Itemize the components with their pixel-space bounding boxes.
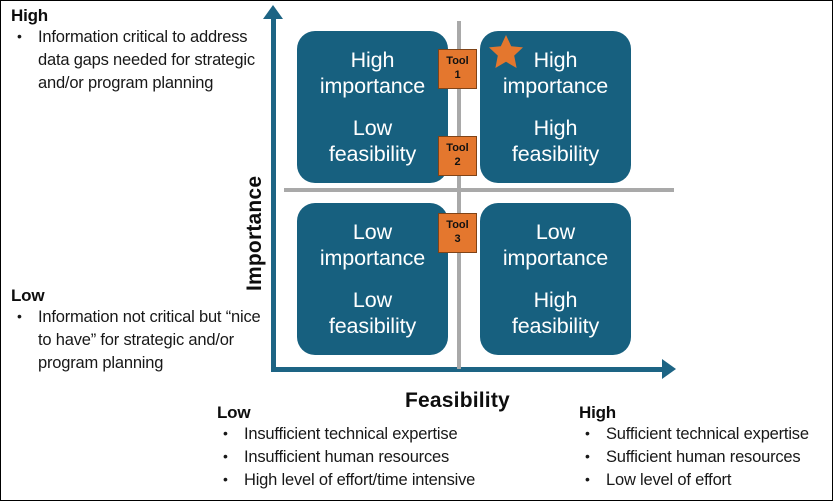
quadrant-importance-line2: importance	[503, 74, 608, 98]
tool-marker-name: Tool	[446, 219, 468, 232]
list-item: High level of effort/time intensive	[217, 469, 557, 492]
list-item: Insufficient human resources	[217, 446, 557, 469]
importance-low-description: Low Information not critical but “nice t…	[11, 286, 261, 375]
quadrant-importance-text: High importance	[320, 47, 425, 99]
y-axis-arrow-icon	[263, 5, 283, 19]
quadrant-importance-line2: importance	[320, 74, 425, 98]
quadrant-importance-line2: importance	[503, 246, 608, 270]
quadrant-feasibility-text: High feasibility	[512, 287, 599, 339]
quadrant-feasibility-line2: feasibility	[329, 142, 416, 166]
y-axis-line	[271, 19, 276, 371]
importance-high-label: High	[11, 6, 273, 26]
tool-marker-number: 2	[454, 155, 460, 170]
y-axis-label: Importance	[243, 176, 267, 291]
feasibility-high-label: High	[579, 403, 833, 423]
quadrant-feasibility-line2: feasibility	[512, 314, 599, 338]
feasibility-high-description: High Sufficient technical expertise Suff…	[579, 403, 833, 492]
quadrant-feasibility-text: Low feasibility	[329, 287, 416, 339]
importance-high-description: High Information critical to address dat…	[11, 6, 273, 95]
feasibility-low-bullet-list: Insufficient technical expertise Insuffi…	[217, 423, 557, 492]
x-axis-line	[271, 367, 663, 372]
quadrant-importance-line1: High	[351, 48, 395, 72]
tool-marker-tool-2[interactable]: Tool 2	[438, 136, 477, 176]
tool-marker-name: Tool	[446, 55, 468, 68]
quadrant-importance-line1: Low	[536, 220, 575, 244]
grid-horizontal-divider	[284, 188, 674, 192]
quadrant-feasibility-line2: feasibility	[329, 314, 416, 338]
list-item: Low level of effort	[579, 469, 833, 492]
quadrant-feasibility-text: High feasibility	[512, 115, 599, 167]
quadrant-low-importance-high-feasibility[interactable]: Low importance High feasibility	[480, 203, 631, 355]
importance-high-bullet-list: Information critical to address data gap…	[11, 26, 273, 95]
quadrant-importance-line1: High	[534, 48, 578, 72]
quadrant-importance-text: Low importance	[503, 219, 608, 271]
list-item: Information critical to address data gap…	[11, 26, 273, 95]
tool-marker-tool-3[interactable]: Tool 3	[438, 213, 477, 253]
quadrant-feasibility-line1: High	[534, 288, 578, 312]
feasibility-low-label: Low	[217, 403, 557, 423]
quadrant-feasibility-line1: High	[534, 116, 578, 140]
tool-marker-number: 1	[454, 68, 460, 83]
star-icon	[488, 34, 524, 69]
quadrant-importance-text: Low importance	[320, 219, 425, 271]
list-item: Insufficient technical expertise	[217, 423, 557, 446]
tool-marker-tool-1[interactable]: Tool 1	[438, 49, 477, 89]
x-axis-arrow-icon	[662, 359, 676, 379]
tool-marker-number: 3	[454, 232, 460, 247]
quadrant-importance-line1: Low	[353, 220, 392, 244]
feasibility-high-bullet-list: Sufficient technical expertise Sufficien…	[579, 423, 833, 492]
list-item: Information not critical but “nice to ha…	[11, 306, 261, 375]
list-item: Sufficient human resources	[579, 446, 833, 469]
quadrant-feasibility-line1: Low	[353, 116, 392, 140]
quadrant-low-importance-low-feasibility[interactable]: Low importance Low feasibility	[297, 203, 448, 355]
tool-marker-name: Tool	[446, 142, 468, 155]
feasibility-low-description: Low Insufficient technical expertise Ins…	[217, 403, 557, 492]
importance-feasibility-matrix-slide: High Information critical to address dat…	[0, 0, 833, 501]
quadrant-high-importance-low-feasibility[interactable]: High importance Low feasibility	[297, 31, 448, 183]
quadrant-feasibility-line1: Low	[353, 288, 392, 312]
list-item: Sufficient technical expertise	[579, 423, 833, 446]
quadrant-importance-line2: importance	[320, 246, 425, 270]
importance-low-bullet-list: Information not critical but “nice to ha…	[11, 306, 261, 375]
quadrant-feasibility-text: Low feasibility	[329, 115, 416, 167]
importance-low-label: Low	[11, 286, 261, 306]
quadrant-feasibility-line2: feasibility	[512, 142, 599, 166]
